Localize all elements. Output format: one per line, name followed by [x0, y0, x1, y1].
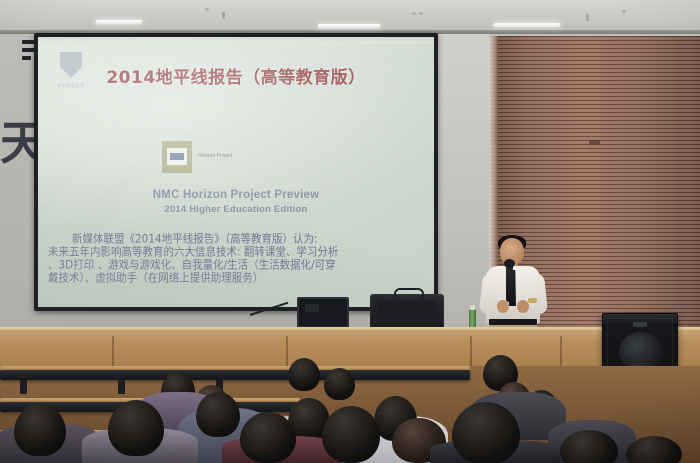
projection-screen-frame: 华中师范大学 2014地平线报告（高等教育版） Horizon Project …: [34, 33, 438, 311]
audience-head: [288, 358, 320, 391]
monitor-screen: [297, 297, 349, 328]
audience-head: [240, 412, 296, 463]
podium-panel-seam: [112, 336, 114, 370]
bench-row: [0, 370, 470, 380]
audience-head: [322, 406, 380, 463]
audience-head: [108, 400, 164, 456]
wood-panel-knob: [589, 140, 600, 145]
ceiling: [0, 0, 700, 34]
bench-leg: [118, 380, 125, 394]
slide-body-text: 新媒体联盟《2014地平线报告》（高等教育版）认为: 未来五年内影响高等教育的六…: [48, 233, 428, 285]
sprinkler-head: [586, 14, 589, 21]
nmc-wordmark: Horizon Project: [198, 153, 232, 159]
nmc-horizon-logo: Horizon Project: [162, 141, 234, 175]
audience-head: [196, 392, 240, 437]
nmc-logo-mark: [170, 153, 184, 160]
ceiling-fitting: [205, 8, 209, 11]
presenter-left-hand: [497, 300, 509, 313]
podium-front-panel: [0, 330, 700, 370]
slide-subtitle-line2: 2014 Higher Education Edition: [38, 204, 434, 215]
podium-panel-seam: [470, 336, 472, 370]
microphone-head: [504, 259, 515, 268]
ceiling-light-fixture: [96, 20, 142, 24]
sprinkler-head: [222, 12, 225, 19]
speaker-badge: [633, 322, 647, 327]
ceiling-light-fixture: [318, 24, 380, 28]
briefcase-flap: [378, 301, 436, 317]
presenter-belt: [489, 319, 537, 325]
podium-panel-seam: [560, 336, 562, 370]
ceiling-fitting: [419, 12, 423, 15]
water-bottle-cap: [470, 305, 475, 310]
slide-body-line: 新媒体联盟《2014地平线报告》（高等教育版）认为:: [48, 233, 428, 247]
desk-microphone: [250, 300, 290, 330]
screen-top-edge: [38, 37, 434, 44]
slide-subtitle-line1: NMC Horizon Project Preview: [38, 189, 434, 201]
presenter-right-hand: [517, 300, 529, 313]
bench-leg: [20, 380, 27, 394]
lecture-hall-photo: 天 华中师范大学 2014地平线报告（高等教育版） Horizon Projec…: [0, 0, 700, 463]
briefcase-handle: [394, 288, 424, 298]
audience-head: [452, 402, 520, 463]
ceiling-fitting: [622, 10, 626, 13]
audience-head: [324, 368, 355, 400]
slide-body-line: 、3D打印 、游戏与游戏化、自我量化/生活（生活数据化/可穿: [48, 259, 428, 273]
podium-panel-seam: [286, 336, 288, 370]
ceiling-fitting: [412, 12, 416, 15]
slide-title: 2014地平线报告（高等教育版）: [38, 63, 434, 88]
presenter-watch: [528, 298, 537, 303]
ceiling-light-fixture: [494, 23, 560, 27]
projection-screen: 华中师范大学 2014地平线报告（高等教育版） Horizon Project …: [38, 37, 434, 307]
monitor-reflection: [305, 304, 319, 312]
microphone-icon: [506, 262, 513, 302]
slide-body-line: 戴技术）、虚拟助手（在网络上提供助理服务）: [48, 272, 428, 286]
slide-body-line: 未来五年内影响高等教育的六大信息技术: 翻转课堂、学习分析: [48, 246, 428, 260]
audience-head: [14, 404, 66, 456]
